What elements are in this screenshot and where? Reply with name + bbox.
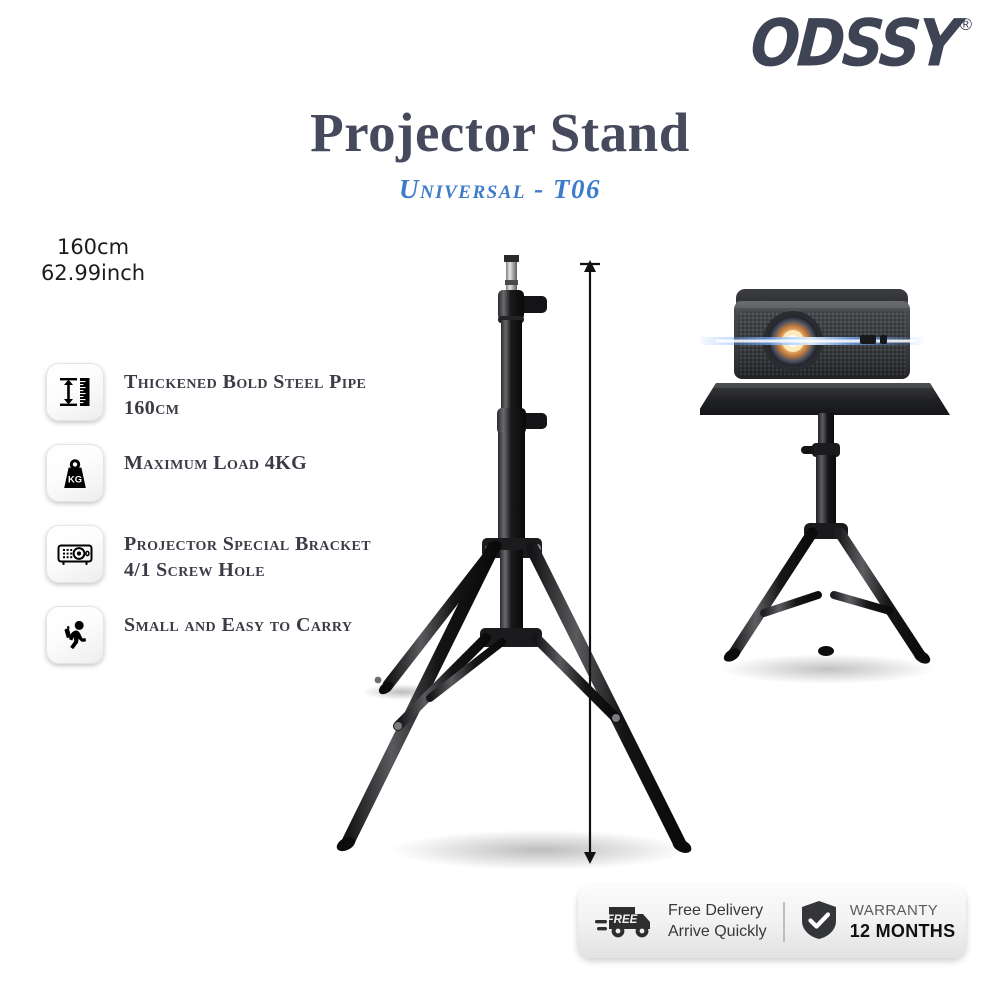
dimension-annotation xyxy=(520,258,700,868)
dimension-imperial: 62.99inch xyxy=(41,261,145,285)
dimension-metric: 160cm xyxy=(57,235,129,259)
feature-item-portable: Small and Easy to Carry xyxy=(46,606,376,666)
feature-label-line1: Small and Easy to Carry xyxy=(124,614,352,636)
right-stand-legs xyxy=(734,533,920,655)
brand-logo: ODSSY ® xyxy=(751,14,972,72)
feature-icon-tile: KG xyxy=(46,444,104,502)
stand-upper-pole xyxy=(501,320,522,412)
feature-icon-tile xyxy=(46,606,104,664)
feature-item-steel-pipe: Thickened Bold Steel Pipe 160cm xyxy=(46,363,376,423)
feature-icon-tile xyxy=(46,525,104,583)
svg-text:KG: KG xyxy=(68,474,82,485)
right-stand-lock xyxy=(801,443,840,457)
registered-trademark-icon: ® xyxy=(959,16,972,33)
warranty-text: WARRANTY 12 MONTHS xyxy=(850,901,956,944)
delivery-line-2: Arrive Quickly xyxy=(668,922,767,943)
brace-rivet xyxy=(394,722,402,730)
dimension-arrow-bottom xyxy=(584,852,596,864)
badge-divider xyxy=(783,902,785,942)
brace-rivet xyxy=(375,677,382,684)
projector-tray xyxy=(700,383,950,415)
ruler-measure-icon xyxy=(55,372,95,412)
free-delivery-truck-icon: FREE xyxy=(595,898,657,947)
warranty-line-1: WARRANTY xyxy=(850,901,956,921)
feature-icon-tile xyxy=(46,363,104,421)
running-person-icon xyxy=(55,615,95,655)
weight-kg-icon: KG xyxy=(55,453,95,493)
right-stand-lower-pole xyxy=(816,455,836,529)
badge-free-delivery: FREE Free Delivery Arrive Quickly xyxy=(595,898,767,947)
feature-label-line1: Maximum Load 4KG xyxy=(124,452,307,474)
stand-spigot xyxy=(504,255,519,292)
dimension-arrow-top xyxy=(584,260,596,272)
projector-stand-illustration-right xyxy=(700,265,970,685)
dimension-label: 160cm 62.99inch xyxy=(28,232,158,289)
feature-list: Thickened Bold Steel Pipe 160cm KG Maxim… xyxy=(46,363,376,687)
projector-device xyxy=(700,289,926,379)
projector-icon xyxy=(54,533,96,575)
delivery-line-1: Free Delivery xyxy=(668,901,767,922)
feature-item-bracket: Projector Special Bracket 4/1 Screw Hole xyxy=(46,525,376,585)
feature-label: Maximum Load 4KG xyxy=(124,444,307,476)
title-block: Projector Stand Universal - T06 xyxy=(0,104,1000,205)
badge-bar: FREE Free Delivery Arrive Quickly xyxy=(578,886,966,958)
brand-logo-wordmark: ODSSY xyxy=(748,11,958,76)
feature-item-max-load: KG Maximum Load 4KG xyxy=(46,444,376,504)
delivery-text: Free Delivery Arrive Quickly xyxy=(668,901,767,943)
product-graphic-page: ODSSY ® Projector Stand Universal - T06 xyxy=(0,0,1000,1000)
svg-text:FREE: FREE xyxy=(607,914,638,926)
badge-warranty: WARRANTY 12 MONTHS xyxy=(799,898,956,947)
feature-label: Small and Easy to Carry xyxy=(124,606,352,638)
warranty-line-2: 12 MONTHS xyxy=(850,920,956,943)
page-title: Projector Stand xyxy=(0,104,1000,162)
page-subtitle: Universal - T06 xyxy=(0,174,1000,205)
shield-check-icon xyxy=(799,898,839,947)
